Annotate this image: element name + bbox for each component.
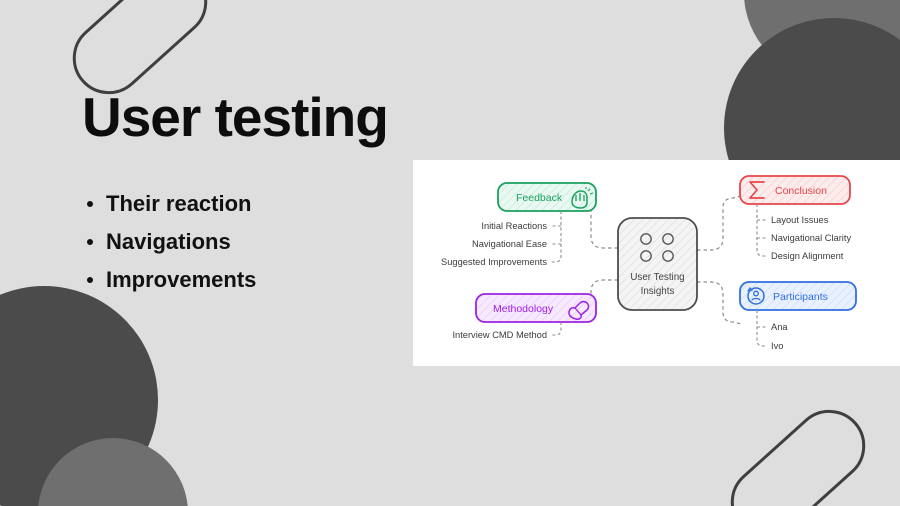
- participants-child-2: Ivo: [771, 341, 783, 351]
- slide-canvas: User testing Their reaction Navigations …: [0, 0, 900, 506]
- page-title: User testing: [82, 90, 388, 145]
- branch-feedback[interactable]: Feedback Initial Reactions Navigational …: [441, 183, 596, 267]
- branch-participants[interactable]: Participants Ana Ivo: [740, 282, 856, 351]
- conclusion-child-3: Design Alignment: [771, 251, 844, 261]
- bullet-item-3: Improvements: [84, 268, 256, 292]
- participants-leaf-stem: [757, 310, 767, 346]
- feedback-label: Feedback: [516, 192, 563, 204]
- center-label-line1: User Testing: [630, 272, 684, 283]
- branch-conclusion[interactable]: Conclusion Layout Issues Navigational Cl…: [740, 176, 851, 261]
- feedback-child-1: Initial Reactions: [481, 221, 547, 231]
- feedback-leaf-stem: [551, 211, 561, 262]
- circle-top-right-light: [744, 0, 900, 78]
- methodology-label: Methodology: [493, 303, 554, 315]
- stadium-outline-bottom: [716, 395, 880, 506]
- connector-center-to-conclusion: [697, 196, 741, 250]
- feedback-child-3: Suggested Improvements: [441, 257, 547, 267]
- conclusion-label: Conclusion: [775, 185, 827, 197]
- mindmap-diagram: User Testing Insights Feedback Ini: [413, 160, 900, 366]
- bullet-item-1: Their reaction: [84, 192, 256, 216]
- conclusion-child-2: Navigational Clarity: [771, 233, 851, 243]
- methodology-child-1: Interview CMD Method: [452, 330, 547, 340]
- branch-methodology[interactable]: Methodology Interview CMD Method: [452, 294, 596, 340]
- center-label-line2: Insights: [641, 286, 675, 297]
- bullet-item-2: Navigations: [84, 230, 256, 254]
- participants-label: Participants: [773, 291, 828, 303]
- circle-bottom-left-light: [38, 438, 188, 506]
- participants-child-1: Ana: [771, 322, 788, 332]
- conclusion-child-1: Layout Issues: [771, 215, 829, 225]
- connector-center-to-participants: [697, 282, 741, 324]
- circle-bottom-left-dark: [0, 286, 158, 506]
- diagram-card: User Testing Insights Feedback Ini: [413, 160, 900, 366]
- conclusion-leaf-stem: [757, 204, 767, 256]
- methodology-leaf-stem: [551, 322, 561, 335]
- center-node[interactable]: User Testing Insights: [618, 218, 697, 310]
- bullet-list: Their reaction Navigations Improvements: [84, 192, 256, 307]
- feedback-child-2: Navigational Ease: [472, 239, 547, 249]
